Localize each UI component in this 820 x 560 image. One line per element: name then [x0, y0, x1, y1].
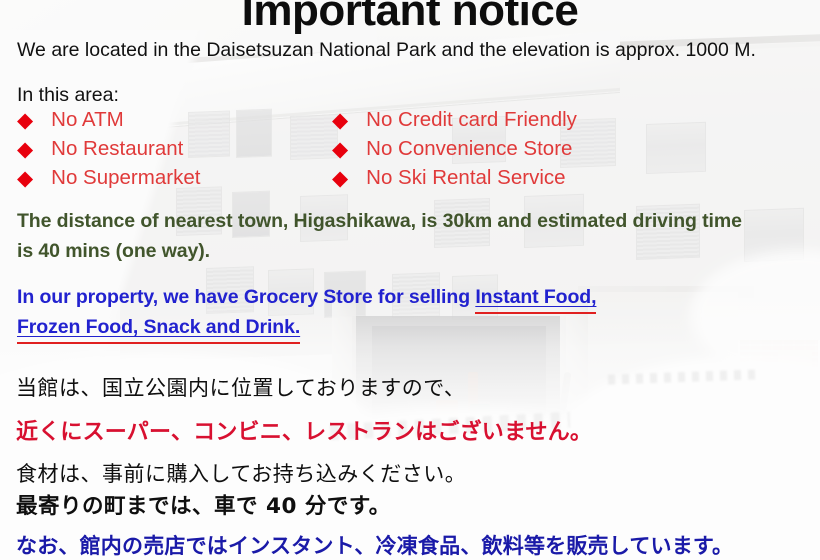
- list-item-label: No Supermarket: [51, 168, 200, 189]
- list-item-label: No Restaurant: [51, 139, 183, 160]
- japanese-line-1: 当館は、国立公園内に位置しておりますので、: [16, 372, 465, 402]
- list-item-label: No Convenience Store: [366, 139, 572, 160]
- page-title: Important notice: [0, 0, 820, 36]
- japanese-line-5: なお、館内の売店ではインスタント、冷凍食品、飲料等を販売しています。: [16, 530, 733, 560]
- list-item: ◆ No Convenience Store: [332, 139, 572, 160]
- list-item-label: No Credit card Friendly: [366, 110, 577, 131]
- notice-content: Important notice We are located in the D…: [0, 0, 820, 560]
- diamond-bullet-icon: ◆: [17, 110, 33, 131]
- diamond-bullet-icon: ◆: [332, 168, 348, 189]
- list-item-label: No Ski Rental Service: [366, 168, 565, 189]
- diamond-bullet-icon: ◆: [17, 139, 33, 160]
- grocery-note-line1: In our property, we have Grocery Store f…: [17, 286, 596, 309]
- grocery-note-emphasis-1: Instant Food,: [475, 286, 596, 308]
- list-item: ◆ No ATM: [17, 110, 124, 131]
- japanese-line-3: 食材は、事前に購入してお持ち込みください。: [16, 458, 466, 488]
- distance-note-line2: is 40 mins (one way).: [17, 240, 210, 263]
- list-item-label: No ATM: [51, 110, 124, 131]
- list-item: ◆ No Ski Rental Service: [332, 168, 566, 189]
- location-lead-text: We are located in the Daisetsuzan Nation…: [17, 39, 756, 62]
- japanese-line-4: 最寄りの町までは、車で 40 分です。: [16, 489, 391, 520]
- grocery-note-plain: In our property, we have Grocery Store f…: [17, 286, 475, 308]
- diamond-bullet-icon: ◆: [332, 110, 348, 131]
- important-notice-poster: Important notice We are located in the D…: [0, 0, 820, 560]
- list-item: ◆ No Credit card Friendly: [332, 110, 577, 131]
- in-this-area-heading: In this area:: [17, 84, 119, 107]
- list-item: ◆ No Supermarket: [17, 168, 200, 189]
- japanese-line-2: 近くにスーパー、コンビニ、レストランはございません。: [16, 414, 592, 446]
- diamond-bullet-icon: ◆: [17, 168, 33, 189]
- list-item: ◆ No Restaurant: [17, 139, 183, 160]
- grocery-note-emphasis-2: Frozen Food, Snack and Drink.: [17, 316, 300, 338]
- grocery-note-line2: Frozen Food, Snack and Drink.: [17, 316, 300, 339]
- distance-note-line1: The distance of nearest town, Higashikaw…: [17, 210, 742, 233]
- diamond-bullet-icon: ◆: [332, 139, 348, 160]
